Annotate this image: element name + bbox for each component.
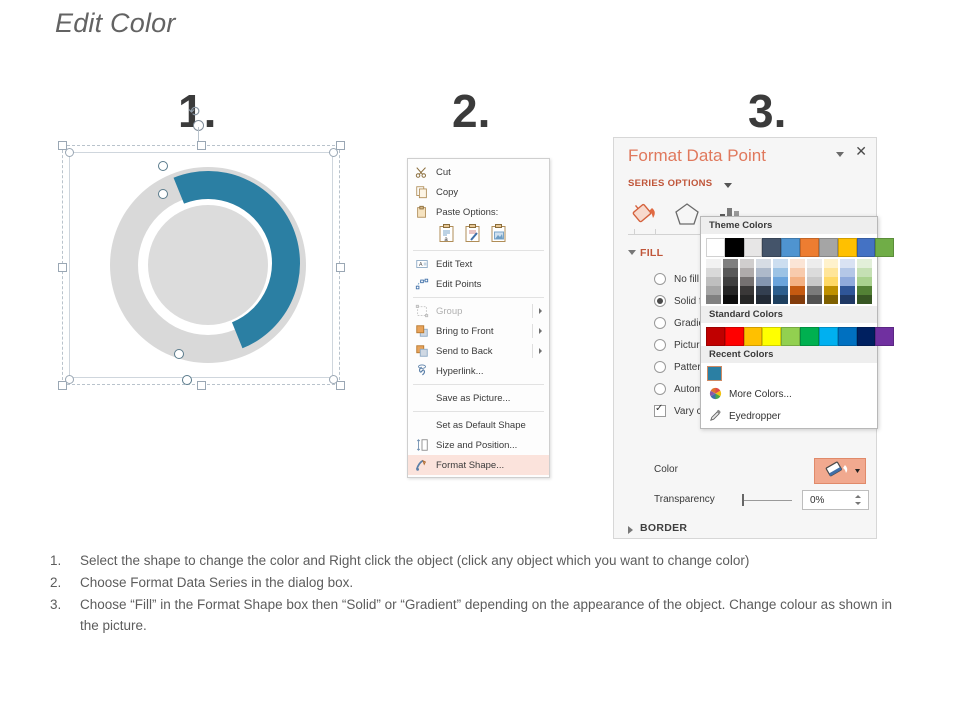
- transparency-row[interactable]: Transparency 0%: [654, 490, 869, 512]
- theme-color-variant-swatch[interactable]: [840, 259, 855, 268]
- instruction-item: 1. Select the shape to change the color …: [50, 550, 910, 571]
- theme-colors-row[interactable]: [701, 234, 877, 257]
- transparency-slider[interactable]: [744, 500, 792, 501]
- theme-color-variant-column[interactable]: [840, 259, 855, 304]
- page-title: Edit Color: [55, 8, 176, 39]
- bring-front-icon: [415, 324, 429, 338]
- shape-selection-frame[interactable]: ⟲: [62, 145, 340, 385]
- resize-handle-se[interactable]: [336, 381, 345, 390]
- theme-color-variant-swatch[interactable]: [773, 268, 788, 277]
- theme-colors-header: Theme Colors: [701, 217, 877, 234]
- theme-color-variants-grid[interactable]: [701, 257, 877, 306]
- theme-color-variant-swatch[interactable]: [857, 286, 872, 295]
- standard-color-swatch[interactable]: [857, 327, 876, 346]
- color-wheel-icon: [709, 387, 722, 403]
- theme-color-variant-swatch[interactable]: [756, 259, 771, 268]
- theme-color-variant-swatch[interactable]: [790, 277, 805, 286]
- theme-color-variant-swatch[interactable]: [790, 259, 805, 268]
- theme-color-variant-swatch[interactable]: [723, 268, 738, 277]
- menu-divider: [532, 304, 533, 318]
- menu-divider: [532, 324, 533, 338]
- svg-text:A: A: [419, 262, 423, 268]
- series-options-chevron-icon[interactable]: [724, 183, 732, 188]
- transparency-label: Transparency: [654, 494, 715, 505]
- theme-color-swatch[interactable]: [781, 238, 800, 257]
- theme-color-variant-swatch[interactable]: [773, 286, 788, 295]
- panel-title: Format Data Point: [628, 146, 766, 166]
- paste-options-row[interactable]: a: [408, 222, 549, 247]
- theme-color-variant-swatch[interactable]: [740, 295, 755, 304]
- border-section-toggle-icon[interactable]: [628, 526, 633, 534]
- close-icon[interactable]: ✕: [855, 144, 867, 158]
- segment-handle-top[interactable]: [158, 161, 168, 171]
- theme-color-variant-swatch[interactable]: [773, 295, 788, 304]
- theme-color-swatch[interactable]: [875, 238, 894, 257]
- theme-color-variant-swatch[interactable]: [790, 295, 805, 304]
- theme-color-variant-swatch[interactable]: [840, 286, 855, 295]
- standard-color-swatch[interactable]: [725, 327, 744, 346]
- color-label: Color: [654, 464, 678, 475]
- theme-color-variant-swatch[interactable]: [824, 259, 839, 268]
- theme-color-variant-swatch[interactable]: [790, 268, 805, 277]
- theme-color-variant-column[interactable]: [773, 259, 788, 304]
- radio-icon[interactable]: [654, 273, 666, 285]
- fill-option-label: No fill: [674, 274, 699, 285]
- theme-color-variant-column[interactable]: [857, 259, 872, 304]
- theme-color-variant-swatch[interactable]: [857, 277, 872, 286]
- theme-color-variant-swatch[interactable]: [706, 286, 721, 295]
- transparency-stepper[interactable]: [854, 492, 862, 508]
- theme-color-variant-swatch[interactable]: [740, 259, 755, 268]
- theme-color-swatch[interactable]: [819, 238, 838, 257]
- radio-icon-selected[interactable]: [654, 295, 666, 307]
- format-shape-icon: [415, 458, 429, 472]
- donut-chart[interactable]: [110, 167, 306, 363]
- theme-color-variant-column[interactable]: [824, 259, 839, 304]
- theme-color-variant-swatch[interactable]: [857, 268, 872, 277]
- segment-handle-inner-top[interactable]: [158, 189, 168, 199]
- menu-label: Group: [436, 306, 462, 317]
- theme-color-variant-swatch[interactable]: [723, 295, 738, 304]
- theme-color-variant-swatch[interactable]: [706, 259, 721, 268]
- series-options-label[interactable]: SERIES OPTIONS: [628, 178, 712, 189]
- transparency-slider-knob[interactable]: [742, 494, 744, 506]
- instruction-text: Choose Format Data Series in the dialog …: [80, 572, 910, 593]
- menu-label: Copy: [436, 187, 458, 198]
- radio-icon[interactable]: [654, 361, 666, 373]
- standard-color-swatch[interactable]: [744, 327, 763, 346]
- theme-color-variant-column[interactable]: [706, 259, 721, 304]
- theme-color-variant-swatch[interactable]: [756, 268, 771, 277]
- menu-separator: [413, 384, 544, 385]
- theme-color-variant-swatch[interactable]: [857, 295, 872, 304]
- menu-label: Cut: [436, 167, 451, 178]
- edit-points-icon: [415, 277, 429, 291]
- edit-text-icon: A: [415, 257, 429, 271]
- theme-color-variant-swatch[interactable]: [706, 277, 721, 286]
- chevron-right-icon: [539, 348, 542, 354]
- inner-handle-se[interactable]: [329, 375, 338, 384]
- donut-highlight-segment[interactable]: [104, 157, 316, 373]
- color-dropdown-menu[interactable]: Theme Colors Standard Colors Recent Colo…: [700, 216, 878, 429]
- standard-color-swatch[interactable]: [762, 327, 781, 346]
- menu-item-send-to-back[interactable]: Send to Back: [408, 341, 549, 361]
- slide-canvas: Edit Color 1. 2. 3. ⟲: [0, 0, 960, 720]
- theme-color-variant-swatch[interactable]: [840, 277, 855, 286]
- eyedropper-icon: [709, 409, 722, 425]
- more-colors-item[interactable]: More Colors...: [701, 384, 877, 406]
- standard-color-swatch[interactable]: [781, 327, 800, 346]
- menu-label: Hyperlink...: [436, 366, 484, 377]
- resize-handle-s[interactable]: [197, 381, 206, 390]
- instruction-number: 1.: [50, 550, 80, 571]
- segment-handle-bottom[interactable]: [182, 375, 192, 385]
- menu-item-size-and-position[interactable]: Size and Position...: [408, 435, 549, 455]
- inner-handle-ne[interactable]: [329, 148, 338, 157]
- resize-handle-ne[interactable]: [336, 141, 345, 150]
- step-number-3: 3.: [748, 88, 786, 134]
- menu-item-group[interactable]: Group: [408, 301, 549, 321]
- theme-color-variant-swatch[interactable]: [740, 268, 755, 277]
- theme-color-variant-swatch[interactable]: [706, 295, 721, 304]
- menu-label: Paste Options:: [436, 207, 498, 218]
- group-icon: [415, 304, 429, 318]
- menu-item-bring-to-front[interactable]: Bring to Front: [408, 321, 549, 341]
- more-colors-label: More Colors...: [729, 389, 792, 400]
- theme-color-variant-swatch[interactable]: [773, 259, 788, 268]
- theme-color-swatch[interactable]: [857, 238, 876, 257]
- recent-color-swatch[interactable]: [707, 366, 722, 381]
- instruction-text: Choose “Fill” in the Format Shape box th…: [80, 594, 910, 636]
- instruction-item: 3. Choose “Fill” in the Format Shape box…: [50, 594, 910, 636]
- theme-color-variant-column[interactable]: [740, 259, 755, 304]
- menu-item-edit-text[interactable]: A Edit Text: [408, 254, 549, 274]
- checkbox-icon-checked[interactable]: [654, 405, 666, 417]
- inner-handle-sw[interactable]: [65, 375, 74, 384]
- eyedropper-label: Eyedropper: [729, 411, 781, 422]
- theme-color-swatch[interactable]: [800, 238, 819, 257]
- standard-color-swatch[interactable]: [706, 327, 725, 346]
- theme-color-variant-swatch[interactable]: [824, 268, 839, 277]
- menu-item-edit-points[interactable]: Edit Points: [408, 274, 549, 294]
- radio-icon[interactable]: [654, 339, 666, 351]
- theme-color-variant-swatch[interactable]: [807, 268, 822, 277]
- border-section-header[interactable]: BORDER: [640, 522, 687, 534]
- chevron-right-icon: [539, 308, 542, 314]
- size-position-icon: [415, 438, 429, 452]
- theme-color-variant-swatch[interactable]: [807, 277, 822, 286]
- hyperlink-icon: [415, 364, 429, 378]
- theme-color-swatch[interactable]: [744, 238, 763, 257]
- menu-item-paste-options[interactable]: Paste Options:: [408, 202, 549, 222]
- menu-separator: [413, 297, 544, 298]
- theme-color-variant-swatch[interactable]: [723, 259, 738, 268]
- theme-color-variant-swatch[interactable]: [756, 286, 771, 295]
- standard-colors-row[interactable]: [701, 323, 877, 346]
- menu-label: Edit Text: [436, 259, 472, 270]
- theme-color-variant-swatch[interactable]: [723, 277, 738, 286]
- menu-item-hyperlink[interactable]: Hyperlink...: [408, 361, 549, 381]
- step-number-2: 2.: [452, 88, 490, 134]
- inner-handle-nw[interactable]: [65, 148, 74, 157]
- theme-color-swatch[interactable]: [706, 238, 725, 257]
- theme-color-variant-swatch[interactable]: [740, 277, 755, 286]
- theme-color-variant-column[interactable]: [807, 259, 822, 304]
- fill-section-header[interactable]: FILL: [640, 247, 663, 259]
- segment-handle-inner-bottom[interactable]: [174, 349, 184, 359]
- theme-color-variant-swatch[interactable]: [773, 277, 788, 286]
- paste-keep-text-icon[interactable]: a: [438, 224, 455, 243]
- chevron-down-icon[interactable]: [836, 152, 844, 157]
- scissors-icon: [415, 165, 429, 179]
- fill-bucket-icon[interactable]: [628, 200, 662, 230]
- theme-color-variant-swatch[interactable]: [756, 277, 771, 286]
- theme-color-variant-swatch[interactable]: [740, 286, 755, 295]
- standard-color-swatch[interactable]: [875, 327, 894, 346]
- theme-color-variant-swatch[interactable]: [807, 286, 822, 295]
- menu-label: Set as Default Shape: [436, 420, 526, 431]
- menu-separator: [413, 411, 544, 412]
- instruction-item: 2. Choose Format Data Series in the dial…: [50, 572, 910, 593]
- resize-handle-n[interactable]: [197, 141, 206, 150]
- instruction-number: 2.: [50, 572, 80, 593]
- send-back-icon: [415, 344, 429, 358]
- theme-color-variant-swatch[interactable]: [840, 295, 855, 304]
- theme-color-variant-swatch[interactable]: [723, 286, 738, 295]
- rotate-handle-icon[interactable]: ⟲: [188, 103, 200, 120]
- instructions-list: 1. Select the shape to change the color …: [50, 550, 910, 637]
- theme-color-swatch[interactable]: [725, 238, 744, 257]
- menu-item-set-default-shape[interactable]: Set as Default Shape: [408, 415, 549, 435]
- color-picker-button[interactable]: [814, 458, 866, 484]
- eyedropper-item[interactable]: Eyedropper: [701, 406, 877, 428]
- context-menu[interactable]: Cut Copy Paste Options: a: [407, 158, 550, 478]
- theme-color-variant-column[interactable]: [790, 259, 805, 304]
- theme-color-swatch[interactable]: [762, 238, 781, 257]
- menu-item-save-as-picture[interactable]: Save as Picture...: [408, 388, 549, 408]
- paste-icon: [415, 205, 429, 219]
- menu-label: Send to Back: [436, 346, 493, 357]
- theme-color-variant-swatch[interactable]: [824, 295, 839, 304]
- color-row[interactable]: Color: [654, 458, 864, 484]
- theme-color-variant-swatch[interactable]: [807, 295, 822, 304]
- menu-label: Bring to Front: [436, 326, 494, 337]
- menu-item-copy[interactable]: Copy: [408, 182, 549, 202]
- menu-label: Format Shape...: [436, 460, 504, 471]
- theme-color-variant-column[interactable]: [723, 259, 738, 304]
- instruction-text: Select the shape to change the color and…: [80, 550, 910, 571]
- copy-icon: [415, 185, 429, 199]
- standard-color-swatch[interactable]: [838, 327, 857, 346]
- menu-label: Size and Position...: [436, 440, 517, 451]
- theme-color-variant-swatch[interactable]: [824, 286, 839, 295]
- recent-colors-header: Recent Colors: [701, 346, 877, 363]
- theme-color-variant-swatch[interactable]: [706, 268, 721, 277]
- menu-item-format-shape[interactable]: Format Shape...: [408, 455, 549, 475]
- theme-color-variant-swatch[interactable]: [840, 268, 855, 277]
- radio-icon[interactable]: [654, 317, 666, 329]
- paste-formatting-icon[interactable]: [464, 224, 481, 243]
- chevron-right-icon: [539, 328, 542, 334]
- theme-color-variant-swatch[interactable]: [807, 259, 822, 268]
- standard-colors-header: Standard Colors: [701, 306, 877, 323]
- theme-color-variant-column[interactable]: [756, 259, 771, 304]
- menu-divider: [532, 344, 533, 358]
- menu-label: Save as Picture...: [436, 393, 510, 404]
- theme-color-variant-swatch[interactable]: [857, 259, 872, 268]
- standard-color-swatch[interactable]: [800, 327, 819, 346]
- instruction-number: 3.: [50, 594, 80, 636]
- menu-separator: [413, 250, 544, 251]
- resize-handle-w[interactable]: [58, 263, 67, 272]
- theme-color-variant-swatch[interactable]: [756, 295, 771, 304]
- menu-label: Edit Points: [436, 279, 481, 290]
- theme-color-variant-swatch[interactable]: [824, 277, 839, 286]
- fill-section-toggle-icon[interactable]: [628, 250, 636, 255]
- effects-pentagon-icon[interactable]: [670, 200, 704, 230]
- paste-picture-icon[interactable]: [490, 224, 507, 243]
- resize-handle-e[interactable]: [336, 263, 345, 272]
- theme-color-variant-swatch[interactable]: [790, 286, 805, 295]
- radio-icon[interactable]: [654, 383, 666, 395]
- standard-color-swatch[interactable]: [819, 327, 838, 346]
- menu-item-cut[interactable]: Cut: [408, 162, 549, 182]
- theme-color-swatch[interactable]: [838, 238, 857, 257]
